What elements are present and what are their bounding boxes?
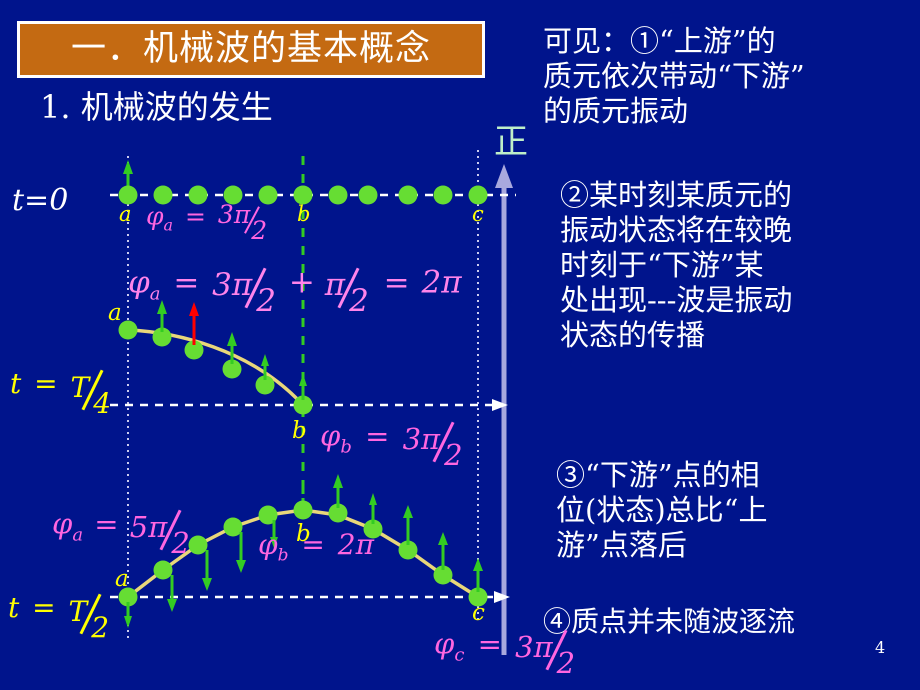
note-paragraph-3: ③“下游”点的相 位(状态)总比“上 游”点落后	[556, 458, 767, 563]
positive-direction-label: 正	[494, 114, 528, 163]
point-label-a-row0: a	[119, 202, 132, 226]
point-label-a-row1: a	[108, 300, 122, 326]
fraction-numerator: 3π	[403, 422, 441, 456]
fraction-3pi-over-2: 3π2	[515, 620, 578, 671]
t-symbol: t	[8, 591, 19, 624]
page-title: 一．机械波的基本概念	[71, 32, 431, 67]
fraction-denominator: 2	[444, 438, 462, 472]
page-number: 4	[875, 638, 885, 657]
fraction-T-over-4: T4	[71, 360, 115, 411]
fraction-denominator: 2	[557, 646, 575, 680]
fraction-numerator: 3π	[515, 630, 553, 664]
phase-label-a-row0: φa = 3π2	[146, 200, 270, 236]
equals-sign: =	[34, 367, 57, 400]
note-paragraph-1: 可见：①“上游”的 质元依次带动“下游” 的质元振动	[543, 24, 805, 129]
fraction-denominator: 2	[91, 611, 109, 644]
point-label-b-row1: b	[292, 418, 307, 444]
phase-label-b-row2: φb = 2π	[258, 528, 374, 566]
fraction-3pi-over-2: 3π2	[212, 258, 279, 310]
phi-subscript-a: a	[164, 216, 174, 235]
phase-label-b-row1: φb = 3π2	[320, 412, 466, 463]
positive-direction-arrow-head	[495, 164, 513, 188]
t-symbol: t	[10, 367, 21, 400]
fraction-T-over-2: T2	[69, 584, 113, 635]
velocity-arrow-row0-p0-head	[123, 160, 133, 174]
phase-equation-a-row1: φa = 3π2 + π2 = 2π	[128, 258, 462, 310]
equals-sign: =	[94, 507, 118, 541]
fraction-denominator: 2	[349, 283, 369, 319]
phi-symbol: φ	[146, 202, 164, 231]
equals-sign: =	[301, 528, 324, 561]
equals-sign: =	[478, 627, 502, 661]
note-paragraph-4: ④质点并未随波逐流	[543, 604, 795, 639]
phase-label-a-row2: φa = 5π2	[52, 500, 193, 551]
fraction-denominator: 2	[251, 216, 267, 245]
page-title-box: 一．机械波的基本概念	[17, 21, 485, 78]
point-label-a-row2: a	[115, 566, 129, 592]
point-label-c-row0: c	[472, 202, 484, 226]
slide-root: 一．机械波的基本概念 1. 机械波的发生 可见：①“上游”的 质元依次带动“下游…	[0, 0, 920, 690]
fraction-numerator: 3π	[218, 200, 250, 229]
phi-symbol: φ	[52, 507, 72, 541]
velocity-arrows-row-t4	[157, 300, 307, 400]
phi-subscript-a: a	[150, 284, 161, 305]
phase-label-c-row2: φc = 3π2	[434, 620, 578, 671]
fraction-numerator: 3π	[212, 267, 252, 303]
equals-sign: =	[365, 419, 389, 453]
phi-symbol: φ	[128, 265, 150, 301]
result-2pi: 2π	[422, 265, 462, 301]
phi-symbol: φ	[434, 627, 454, 661]
note-paragraph-2: ②某时刻某质元的 振动状态将在较晚 时刻于“下游”某 处出现---波是振动 状态…	[560, 178, 792, 353]
dots-row-t4	[119, 321, 313, 415]
fraction-3pi-over-2: 3π2	[218, 200, 270, 236]
equals-sign-2: =	[384, 265, 410, 301]
phi-subscript-b: b	[340, 436, 352, 457]
time-label-t0: t=0	[12, 183, 68, 218]
value-2pi: 2π	[338, 528, 374, 561]
phi-subscript-c: c	[454, 644, 464, 665]
equals-sign: =	[185, 202, 206, 231]
equals-sign: =	[32, 591, 55, 624]
phi-subscript-b: b	[278, 546, 289, 566]
fraction-denominator: 2	[171, 526, 189, 560]
phi-symbol: φ	[320, 419, 340, 453]
plus-sign: +	[289, 265, 315, 301]
point-label-b-row0: b	[297, 202, 310, 226]
phi-subscript-a: a	[72, 524, 83, 545]
time-label-t4: t = T4	[10, 360, 114, 411]
fraction-denominator: 2	[256, 283, 276, 319]
fraction-pi-over-2: π2	[325, 258, 372, 310]
fraction-denominator: 4	[93, 387, 111, 420]
fraction-5pi-over-2: 5π2	[130, 500, 193, 551]
fraction-numerator: 5π	[130, 510, 168, 544]
phi-symbol: φ	[258, 528, 278, 561]
time-label-t2: t = T2	[8, 584, 112, 635]
equals-sign: =	[173, 265, 199, 301]
fraction-3pi-over-2: 3π2	[403, 412, 466, 463]
